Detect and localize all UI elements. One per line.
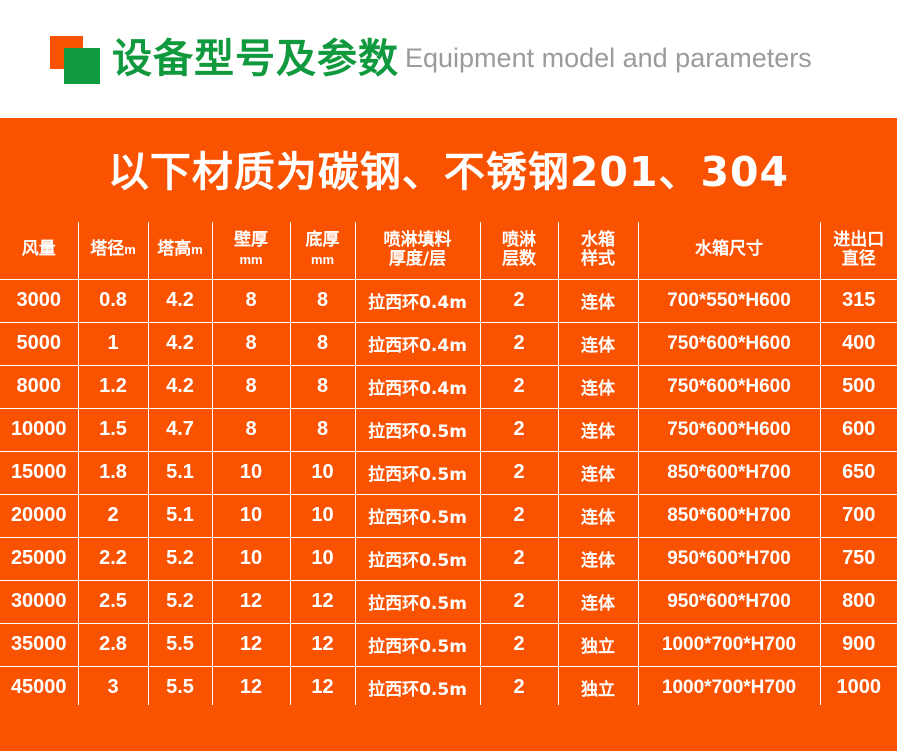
cell-packing: 拉西环0.5m <box>355 537 480 580</box>
cell-tank-style: 连体 <box>558 537 638 580</box>
cell-packing: 拉西环0.5m <box>355 580 480 623</box>
col-header-unit: 样式 <box>581 249 615 269</box>
cell-air-volume: 8000 <box>0 365 78 408</box>
cell-air-volume: 45000 <box>0 666 78 709</box>
cell-tower-diameter: 2.8 <box>78 623 148 666</box>
cell-tower-diameter: 2 <box>78 494 148 537</box>
col-header-wall-thickness: 壁厚 mm <box>212 222 290 279</box>
cell-packing: 拉西环0.5m <box>355 408 480 451</box>
cell-air-volume: 25000 <box>0 537 78 580</box>
cell-wall-thickness: 8 <box>212 408 290 451</box>
spec-table-body: 30000.84.288拉西环0.4m2连体700*550*H600315500… <box>0 279 897 709</box>
col-header-tank-size: 水箱尺寸 <box>638 222 820 279</box>
cell-tower-height: 5.5 <box>148 666 212 709</box>
cell-wall-thickness: 8 <box>212 279 290 322</box>
table-row: 150001.85.11010拉西环0.5m2连体850*600*H700650 <box>0 451 897 494</box>
cell-tank-style: 独立 <box>558 623 638 666</box>
cell-tower-diameter: 1.2 <box>78 365 148 408</box>
cell-wall-thickness: 12 <box>212 623 290 666</box>
col-header-label: 底厚 <box>306 230 340 250</box>
page-header: 设备型号及参数 Equipment model and parameters <box>0 0 897 118</box>
cell-tank-style: 连体 <box>558 580 638 623</box>
cell-bottom-thickness: 8 <box>290 365 355 408</box>
col-header-tower-height: 塔高m <box>148 222 212 279</box>
table-row: 2000025.11010拉西环0.5m2连体850*600*H700700 <box>0 494 897 537</box>
cell-spray-layers: 2 <box>480 365 558 408</box>
cell-inlet-outlet-diameter: 750 <box>820 537 897 580</box>
spec-table-head: 风量 塔径m 塔高m 壁厚 mm 底厚 mm <box>0 222 897 279</box>
cell-tower-diameter: 1.5 <box>78 408 148 451</box>
page-title: 设备型号及参数 <box>112 39 399 79</box>
cell-bottom-thickness: 12 <box>290 623 355 666</box>
cell-air-volume: 3000 <box>0 279 78 322</box>
cell-tank-style: 连体 <box>558 451 638 494</box>
cell-tank-size: 750*600*H600 <box>638 408 820 451</box>
cell-air-volume: 35000 <box>0 623 78 666</box>
cell-packing: 拉西环0.4m <box>355 365 480 408</box>
spec-sheet-page: 设备型号及参数 Equipment model and parameters 以… <box>0 0 897 751</box>
col-header-unit: 层数 <box>502 249 536 269</box>
col-header-inlet-outlet-diameter: 进出口 直径 <box>820 222 897 279</box>
logo-square-green <box>64 48 100 84</box>
cell-bottom-thickness: 8 <box>290 279 355 322</box>
cell-tower-height: 5.1 <box>148 451 212 494</box>
col-header-bottom-thickness: 底厚 mm <box>290 222 355 279</box>
table-header-row: 风量 塔径m 塔高m 壁厚 mm 底厚 mm <box>0 222 897 279</box>
cell-inlet-outlet-diameter: 1000 <box>820 666 897 709</box>
cell-tank-style: 连体 <box>558 365 638 408</box>
cell-packing: 拉西环0.5m <box>355 623 480 666</box>
cell-spray-layers: 2 <box>480 451 558 494</box>
cell-tank-style: 连体 <box>558 408 638 451</box>
cell-spray-layers: 2 <box>480 279 558 322</box>
cell-packing: 拉西环0.5m <box>355 494 480 537</box>
cell-spray-layers: 2 <box>480 494 558 537</box>
col-header-air-volume: 风量 <box>0 222 78 279</box>
cell-tank-size: 750*600*H600 <box>638 365 820 408</box>
cell-inlet-outlet-diameter: 600 <box>820 408 897 451</box>
table-row: 4500035.51212拉西环0.5m2独立1000*700*H7001000 <box>0 666 897 709</box>
cell-tower-height: 4.2 <box>148 279 212 322</box>
cell-wall-thickness: 10 <box>212 494 290 537</box>
col-header-label: 风量 <box>22 239 56 259</box>
table-row: 80001.24.288拉西环0.4m2连体750*600*H600500 <box>0 365 897 408</box>
col-header-unit: mm <box>239 252 262 267</box>
material-banner: 以下材质为碳钢、不锈钢201、304 <box>0 118 897 218</box>
cell-tower-height: 4.7 <box>148 408 212 451</box>
col-header-label: 塔高 <box>157 239 191 259</box>
cell-air-volume: 10000 <box>0 408 78 451</box>
cell-tank-size: 950*600*H700 <box>638 537 820 580</box>
table-bottom-fill <box>0 705 897 751</box>
cell-inlet-outlet-diameter: 900 <box>820 623 897 666</box>
cell-tank-style: 连体 <box>558 494 638 537</box>
cell-tower-height: 4.2 <box>148 365 212 408</box>
cell-inlet-outlet-diameter: 500 <box>820 365 897 408</box>
cell-tower-diameter: 2.5 <box>78 580 148 623</box>
cell-air-volume: 15000 <box>0 451 78 494</box>
col-header-tower-diameter: 塔径m <box>78 222 148 279</box>
cell-air-volume: 20000 <box>0 494 78 537</box>
cell-inlet-outlet-diameter: 700 <box>820 494 897 537</box>
cell-bottom-thickness: 8 <box>290 322 355 365</box>
cell-bottom-thickness: 8 <box>290 408 355 451</box>
cell-spray-layers: 2 <box>480 537 558 580</box>
cell-packing: 拉西环0.4m <box>355 279 480 322</box>
cell-wall-thickness: 8 <box>212 365 290 408</box>
cell-inlet-outlet-diameter: 800 <box>820 580 897 623</box>
cell-bottom-thickness: 10 <box>290 494 355 537</box>
page-subtitle: Equipment model and parameters <box>405 45 812 74</box>
col-header-spray-layers: 喷淋 层数 <box>480 222 558 279</box>
col-header-unit: m <box>124 242 136 257</box>
cell-inlet-outlet-diameter: 400 <box>820 322 897 365</box>
cell-tower-height: 5.2 <box>148 537 212 580</box>
cell-bottom-thickness: 10 <box>290 451 355 494</box>
col-header-label: 壁厚 <box>234 230 268 250</box>
cell-bottom-thickness: 12 <box>290 666 355 709</box>
table-row: 250002.25.21010拉西环0.5m2连体950*600*H700750 <box>0 537 897 580</box>
cell-tower-diameter: 1 <box>78 322 148 365</box>
col-header-packing: 喷淋填料 厚度/层 <box>355 222 480 279</box>
spec-table: 风量 塔径m 塔高m 壁厚 mm 底厚 mm <box>0 222 897 710</box>
cell-tank-size: 750*600*H600 <box>638 322 820 365</box>
cell-tower-diameter: 3 <box>78 666 148 709</box>
cell-tank-size: 1000*700*H700 <box>638 666 820 709</box>
col-header-label: 塔径 <box>90 239 124 259</box>
cell-tower-diameter: 0.8 <box>78 279 148 322</box>
table-row: 100001.54.788拉西环0.5m2连体750*600*H600600 <box>0 408 897 451</box>
cell-spray-layers: 2 <box>480 322 558 365</box>
cell-tank-size: 850*600*H700 <box>638 451 820 494</box>
cell-tank-size: 700*550*H600 <box>638 279 820 322</box>
col-header-tank-style: 水箱 样式 <box>558 222 638 279</box>
table-row: 500014.288拉西环0.4m2连体750*600*H600400 <box>0 322 897 365</box>
col-header-label: 喷淋 <box>502 230 536 250</box>
cell-spray-layers: 2 <box>480 623 558 666</box>
col-header-unit: 厚度/层 <box>389 249 446 269</box>
cell-tower-diameter: 2.2 <box>78 537 148 580</box>
cell-tower-height: 5.5 <box>148 623 212 666</box>
cell-tank-size: 1000*700*H700 <box>638 623 820 666</box>
cell-air-volume: 30000 <box>0 580 78 623</box>
cell-tower-height: 5.2 <box>148 580 212 623</box>
cell-tower-height: 5.1 <box>148 494 212 537</box>
cell-wall-thickness: 8 <box>212 322 290 365</box>
cell-wall-thickness: 12 <box>212 580 290 623</box>
cell-packing: 拉西环0.4m <box>355 322 480 365</box>
spec-table-container: 风量 塔径m 塔高m 壁厚 mm 底厚 mm <box>0 218 897 751</box>
cell-spray-layers: 2 <box>480 408 558 451</box>
cell-inlet-outlet-diameter: 650 <box>820 451 897 494</box>
cell-wall-thickness: 12 <box>212 666 290 709</box>
col-header-unit: mm <box>311 252 334 267</box>
cell-tank-style: 连体 <box>558 322 638 365</box>
table-row: 350002.85.51212拉西环0.5m2独立1000*700*H70090… <box>0 623 897 666</box>
col-header-label: 水箱 <box>581 230 615 250</box>
cell-packing: 拉西环0.5m <box>355 666 480 709</box>
col-header-label: 进出口 <box>833 230 884 250</box>
cell-air-volume: 5000 <box>0 322 78 365</box>
cell-packing: 拉西环0.5m <box>355 451 480 494</box>
two-squares-logo-icon <box>50 36 102 84</box>
material-banner-text: 以下材质为碳钢、不锈钢201、304 <box>108 138 789 198</box>
col-header-label: 喷淋填料 <box>384 230 452 250</box>
cell-bottom-thickness: 10 <box>290 537 355 580</box>
col-header-label: 水箱尺寸 <box>695 239 763 259</box>
table-row: 30000.84.288拉西环0.4m2连体700*550*H600315 <box>0 279 897 322</box>
cell-wall-thickness: 10 <box>212 451 290 494</box>
cell-inlet-outlet-diameter: 315 <box>820 279 897 322</box>
cell-tank-size: 950*600*H700 <box>638 580 820 623</box>
cell-tower-diameter: 1.8 <box>78 451 148 494</box>
table-row: 300002.55.21212拉西环0.5m2连体950*600*H700800 <box>0 580 897 623</box>
cell-spray-layers: 2 <box>480 666 558 709</box>
cell-bottom-thickness: 12 <box>290 580 355 623</box>
cell-tank-style: 独立 <box>558 666 638 709</box>
col-header-unit: 直径 <box>842 249 876 269</box>
col-header-unit: m <box>191 242 203 257</box>
cell-wall-thickness: 10 <box>212 537 290 580</box>
cell-tank-size: 850*600*H700 <box>638 494 820 537</box>
cell-tank-style: 连体 <box>558 279 638 322</box>
cell-spray-layers: 2 <box>480 580 558 623</box>
cell-tower-height: 4.2 <box>148 322 212 365</box>
